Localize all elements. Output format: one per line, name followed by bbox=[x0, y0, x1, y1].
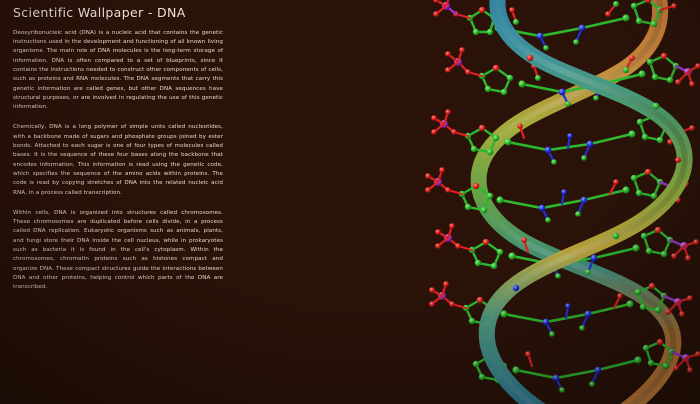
dna-double-helix-illustration bbox=[420, 0, 700, 404]
page-title: Scientific Wallpaper - DNA bbox=[13, 6, 223, 20]
paragraph-3: Within cells, DNA is organized into stru… bbox=[13, 209, 223, 293]
text-panel: Scientific Wallpaper - DNA Deoxyribonucl… bbox=[13, 6, 223, 303]
wallpaper-canvas: Scientific Wallpaper - DNA Deoxyribonucl… bbox=[0, 0, 700, 404]
paragraph-1: Deoxyribonucleic acid (DNA) is a nucleic… bbox=[13, 29, 223, 113]
paragraph-2: Chemically, DNA is a long polymer of sim… bbox=[13, 123, 223, 197]
